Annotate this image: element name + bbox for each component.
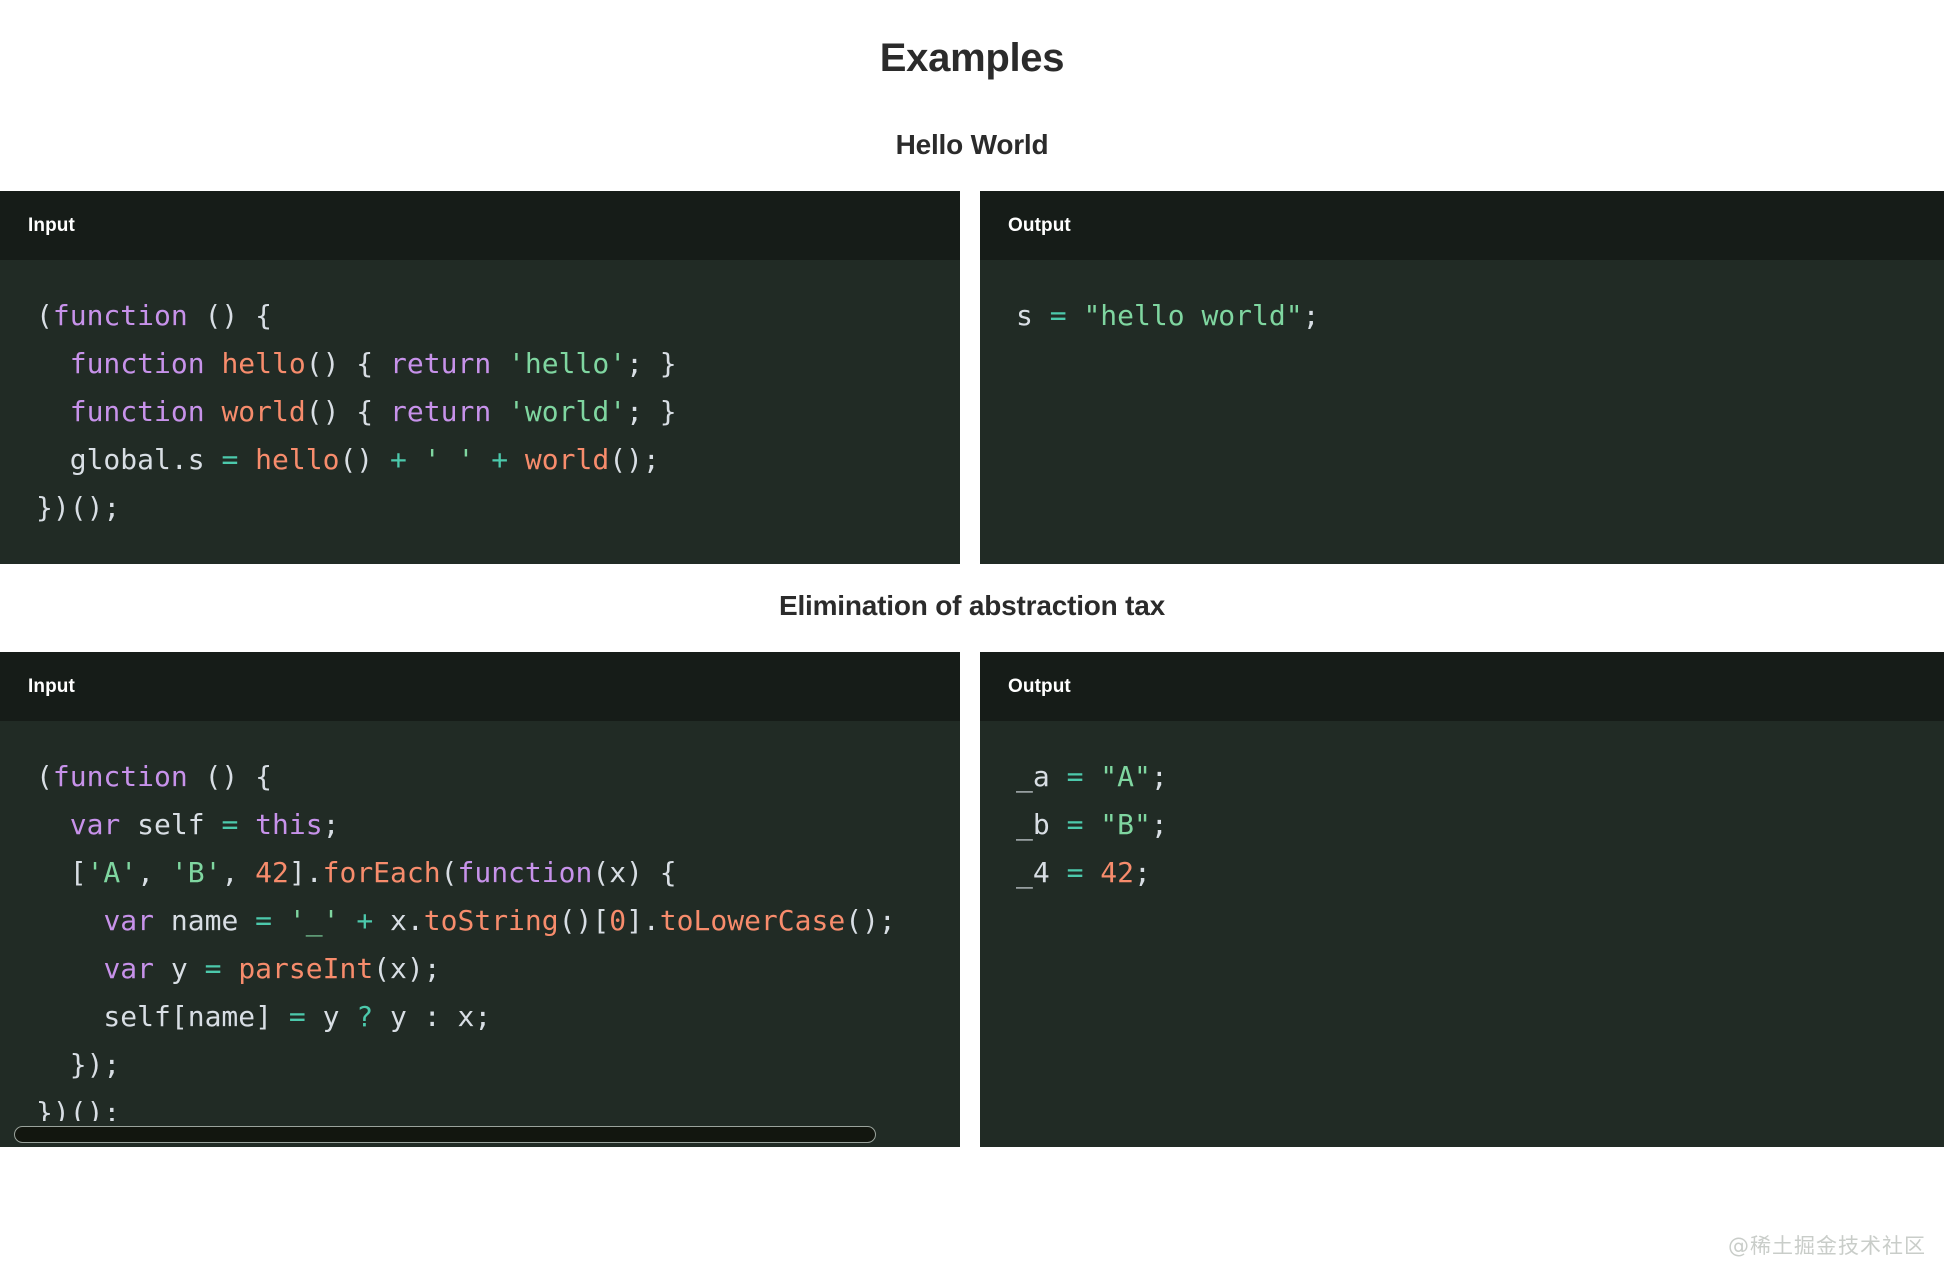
code-token: var	[70, 808, 121, 841]
code-token: function	[457, 856, 592, 889]
output-panel-label: Output	[1008, 676, 1071, 698]
code-line: self[name] = y ? y : x;	[36, 993, 960, 1041]
code-token: =	[1067, 808, 1084, 841]
code-token: "B"	[1100, 808, 1151, 841]
code-token: =	[289, 1000, 306, 1033]
code-token: function	[53, 299, 188, 332]
code-token	[36, 904, 103, 937]
code-token: function	[53, 760, 188, 793]
code-token: var	[103, 904, 154, 937]
code-line: global.s = hello() + ' ' + world();	[36, 436, 960, 484]
code-line: });	[36, 1041, 960, 1089]
code-token: 'hello'	[508, 347, 626, 380]
code-token: ' '	[424, 443, 475, 476]
input-code-hello-world[interactable]: (function () { function hello() { return…	[0, 260, 960, 564]
code-token: ();	[845, 904, 896, 937]
output-code-hello-world: s = "hello world";	[980, 260, 1944, 564]
code-token: hello	[255, 443, 339, 476]
code-token: =	[205, 952, 222, 985]
code-token: y	[306, 1000, 357, 1033]
code-token	[205, 347, 222, 380]
code-line: var name = '_' + x.toString()[0].toLower…	[36, 897, 960, 945]
code-token: world	[221, 395, 305, 428]
code-token: y : x;	[373, 1000, 491, 1033]
code-token: hello	[221, 347, 305, 380]
code-token: (	[441, 856, 458, 889]
horizontal-scrollbar[interactable]	[0, 1121, 960, 1147]
code-token	[407, 443, 424, 476]
code-token	[36, 347, 70, 380]
code-token	[491, 347, 508, 380]
code-token: _4	[1016, 856, 1067, 889]
code-line: (function () {	[36, 753, 960, 801]
code-token	[205, 395, 222, 428]
code-line: (function () {	[36, 292, 960, 340]
code-token	[1067, 299, 1084, 332]
code-token: ;	[323, 808, 340, 841]
code-token: ].	[626, 904, 660, 937]
code-token: ?	[356, 1000, 373, 1033]
code-token	[272, 904, 289, 937]
code-token: this	[255, 808, 322, 841]
code-token	[339, 904, 356, 937]
code-token: name	[154, 904, 255, 937]
code-line: function world() { return 'world'; }	[36, 388, 960, 436]
horizontal-scrollbar-thumb[interactable]	[14, 1126, 876, 1143]
code-line: ['A', 'B', 42].forEach(function(x) {	[36, 849, 960, 897]
output-panel-header: Output	[980, 191, 1944, 260]
code-token: return	[390, 347, 491, 380]
code-token: 'A'	[87, 856, 138, 889]
code-token: [	[36, 856, 87, 889]
output-code-abstraction-tax: _a = "A";_b = "B";_4 = 42;	[980, 721, 1944, 1147]
code-token: var	[103, 952, 154, 985]
code-token	[1083, 808, 1100, 841]
output-panel-hello-world: Output s = "hello world";	[980, 191, 1944, 564]
code-token: ;	[1303, 299, 1320, 332]
code-line: s = "hello world";	[1016, 292, 1944, 340]
code-token: s	[1016, 299, 1050, 332]
code-token: forEach	[323, 856, 441, 889]
code-token: y	[154, 952, 205, 985]
code-token: 'B'	[171, 856, 222, 889]
code-line: })();	[36, 484, 960, 532]
code-token: "A"	[1100, 760, 1151, 793]
code-token	[221, 952, 238, 985]
code-token: +	[491, 443, 508, 476]
code-token: "hello world"	[1083, 299, 1302, 332]
input-panel-label: Input	[28, 676, 75, 698]
code-token: () {	[306, 395, 390, 428]
section-heading-abstraction-tax: Elimination of abstraction tax	[0, 564, 1944, 622]
code-token: x.	[373, 904, 424, 937]
code-token: ; }	[626, 347, 677, 380]
code-token: ();	[609, 443, 660, 476]
code-token: _b	[1016, 808, 1067, 841]
example-row-hello-world: Input (function () { function hello() { …	[0, 191, 1944, 564]
code-token: =	[1067, 856, 1084, 889]
code-token	[36, 808, 70, 841]
code-token	[1083, 760, 1100, 793]
code-token	[491, 395, 508, 428]
code-token	[508, 443, 525, 476]
code-line: _4 = 42;	[1016, 849, 1944, 897]
code-token: });	[36, 1048, 120, 1081]
code-token: () {	[188, 299, 272, 332]
code-token: self[name]	[36, 1000, 289, 1033]
code-token: 'world'	[508, 395, 626, 428]
code-token: '_'	[289, 904, 340, 937]
code-line: _a = "A";	[1016, 753, 1944, 801]
code-token	[474, 443, 491, 476]
code-line: var self = this;	[36, 801, 960, 849]
code-token: self	[120, 808, 221, 841]
code-token: +	[390, 443, 407, 476]
code-line: _b = "B";	[1016, 801, 1944, 849]
code-token: ; }	[626, 395, 677, 428]
code-line: var y = parseInt(x);	[36, 945, 960, 993]
code-token: toString	[424, 904, 559, 937]
code-token: (x);	[373, 952, 440, 985]
code-token: (	[36, 299, 53, 332]
code-token: parseInt	[238, 952, 373, 985]
code-line: function hello() { return 'hello'; }	[36, 340, 960, 388]
code-token: })();	[36, 491, 120, 524]
code-token: ()[	[559, 904, 610, 937]
code-token: () {	[188, 760, 272, 793]
input-panel-label: Input	[28, 215, 75, 237]
code-token: (	[36, 760, 53, 793]
output-panel-header: Output	[980, 652, 1944, 721]
input-panel-abstraction-tax: Input (function () { var self = this; ['…	[0, 652, 960, 1147]
code-token: _a	[1016, 760, 1067, 793]
code-token: ;	[1151, 760, 1168, 793]
output-panel-abstraction-tax: Output _a = "A";_b = "B";_4 = 42;	[980, 652, 1944, 1147]
input-panel-hello-world: Input (function () { function hello() { …	[0, 191, 960, 564]
code-token: function	[70, 395, 205, 428]
code-token: function	[70, 347, 205, 380]
input-panel-header: Input	[0, 652, 960, 721]
code-token: +	[356, 904, 373, 937]
code-token: return	[390, 395, 491, 428]
code-token: ()	[339, 443, 390, 476]
input-panel-header: Input	[0, 191, 960, 260]
code-token: 0	[609, 904, 626, 937]
code-token: 42	[1100, 856, 1134, 889]
code-token: () {	[306, 347, 390, 380]
code-token: ,	[137, 856, 171, 889]
code-token: =	[221, 808, 238, 841]
watermark: @稀土掘金技术社区	[1728, 1230, 1926, 1260]
code-token: global.s	[36, 443, 221, 476]
code-token: ;	[1151, 808, 1168, 841]
code-token: ,	[221, 856, 255, 889]
output-panel-label: Output	[1008, 215, 1071, 237]
code-token	[1083, 856, 1100, 889]
code-token: toLowerCase	[660, 904, 845, 937]
code-token: 42	[255, 856, 289, 889]
code-token: ].	[289, 856, 323, 889]
code-token: ;	[1134, 856, 1151, 889]
code-token	[36, 395, 70, 428]
code-token	[238, 808, 255, 841]
code-token: (x) {	[592, 856, 676, 889]
code-token: =	[1050, 299, 1067, 332]
code-token: =	[255, 904, 272, 937]
example-row-abstraction-tax: Input (function () { var self = this; ['…	[0, 652, 1944, 1147]
input-code-abstraction-tax[interactable]: (function () { var self = this; ['A', 'B…	[0, 721, 960, 1147]
code-token: =	[1067, 760, 1084, 793]
code-token	[238, 443, 255, 476]
page-title: Examples	[0, 0, 1944, 81]
section-heading-hello-world: Hello World	[0, 81, 1944, 161]
code-token: world	[525, 443, 609, 476]
code-token: =	[221, 443, 238, 476]
code-token	[36, 952, 103, 985]
